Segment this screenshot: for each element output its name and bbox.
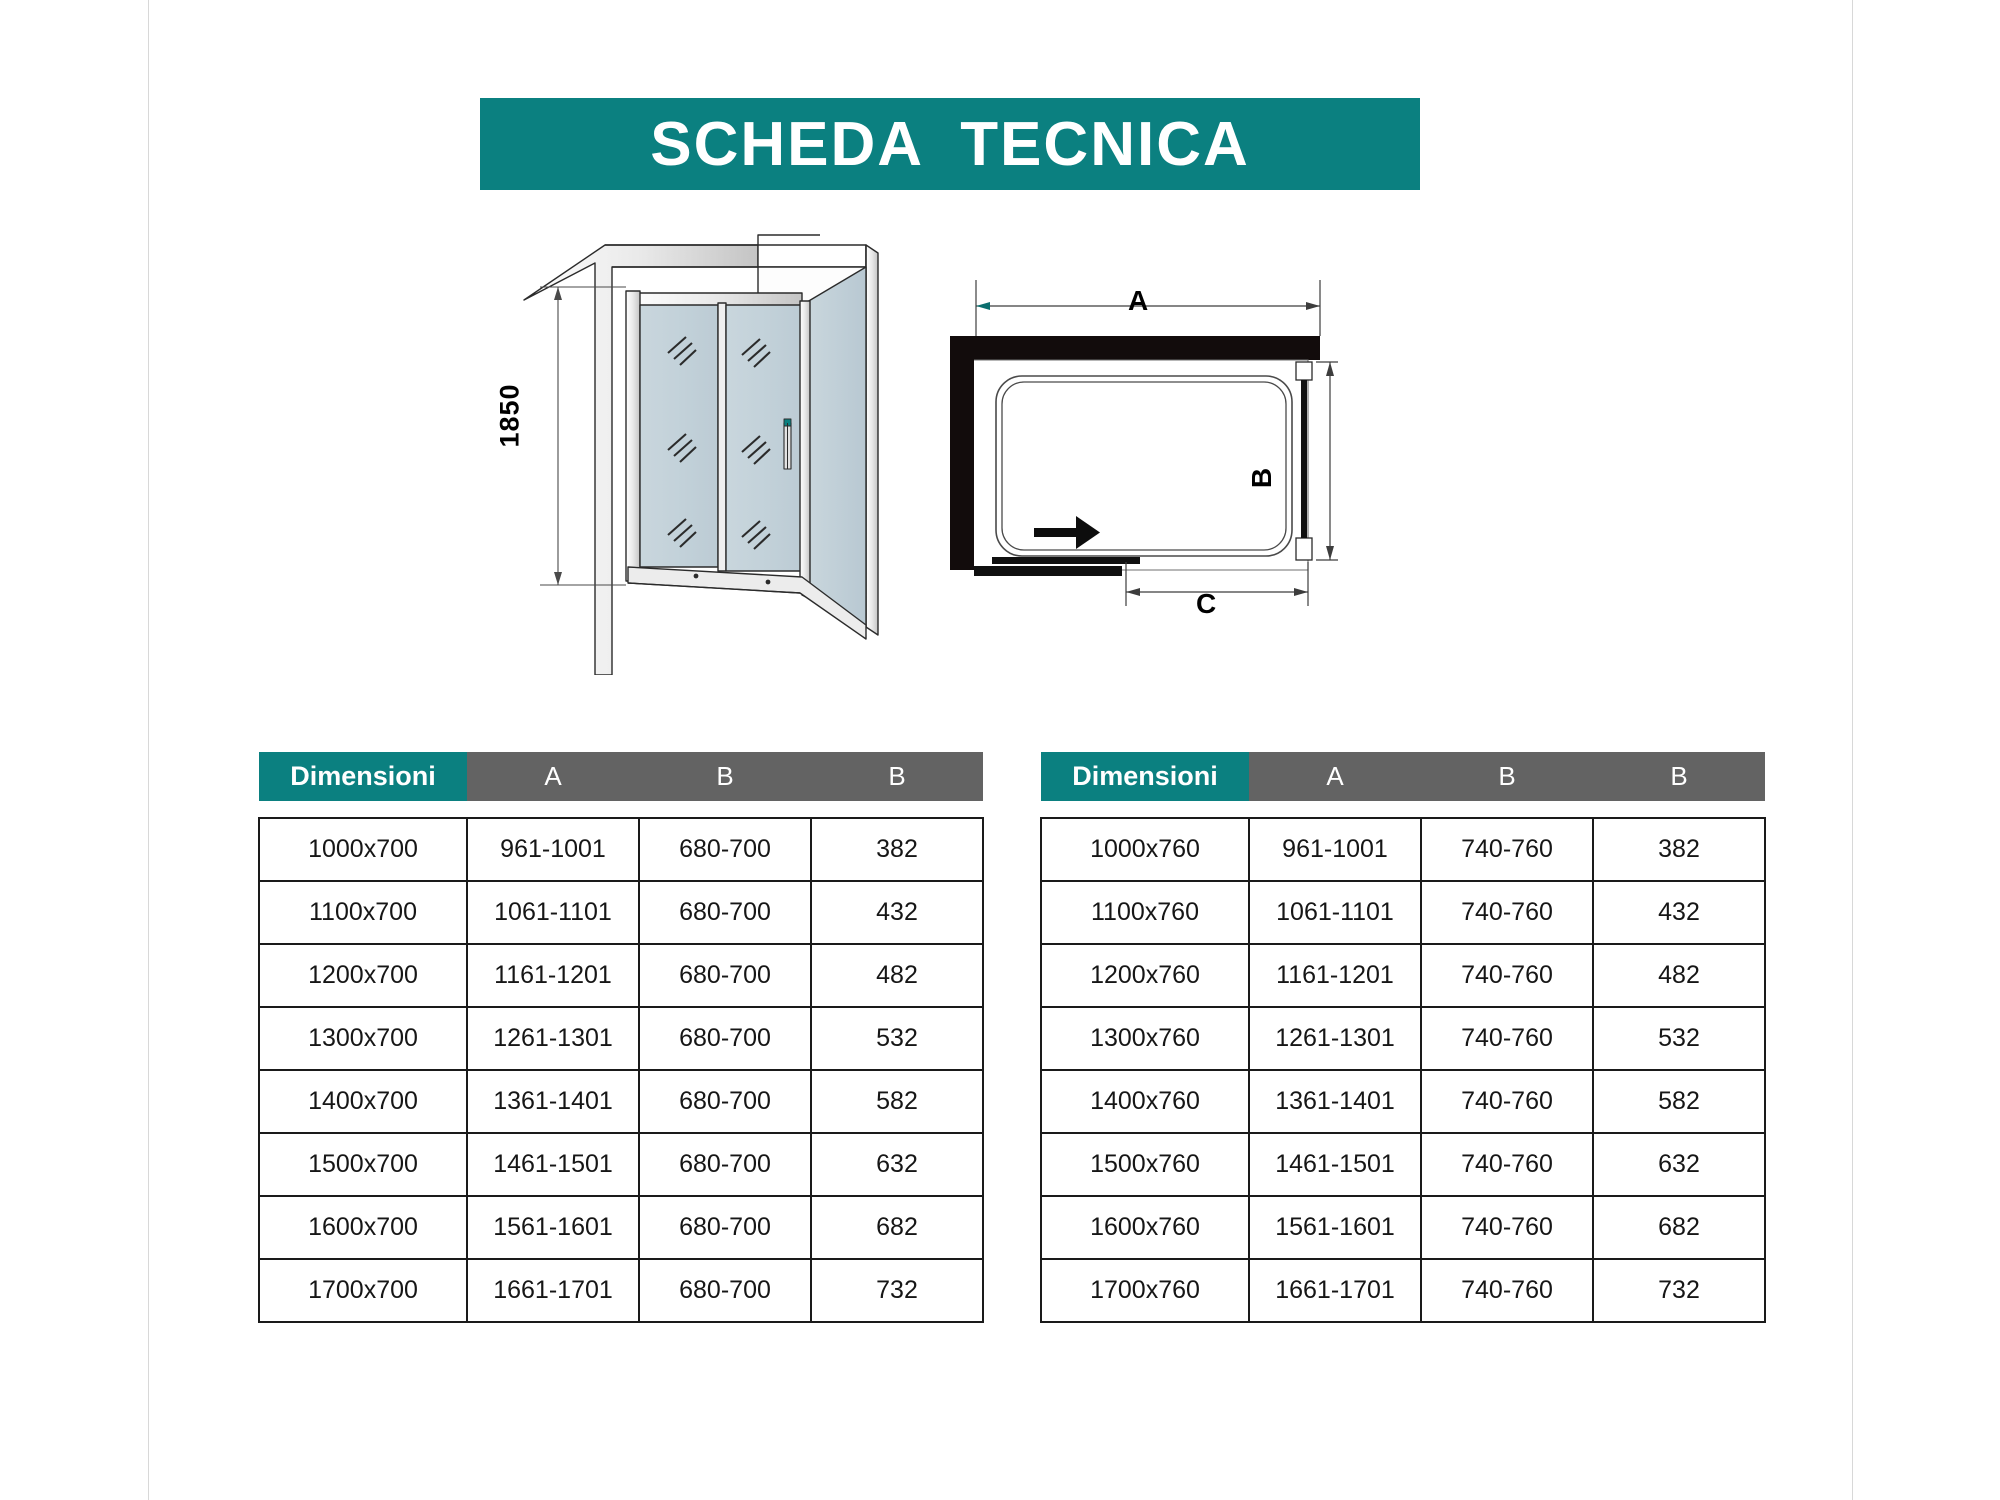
cell-b2: 682 — [1593, 1196, 1765, 1259]
table-row: 1500x760 1461-1501 740-760 632 — [1041, 1133, 1765, 1196]
roller-dot-2 — [766, 580, 771, 585]
cell-b1: 740-760 — [1421, 1259, 1593, 1322]
cell-b2: 382 — [1593, 818, 1765, 881]
table-row: 1700x700 1661-1701 680-700 732 — [259, 1259, 983, 1322]
cell-a: 1561-1601 — [1249, 1196, 1421, 1259]
table-row: 1300x760 1261-1301 740-760 532 — [1041, 1007, 1765, 1070]
cell-a: 1461-1501 — [467, 1133, 639, 1196]
cell-a: 1361-1401 — [467, 1070, 639, 1133]
table-760-body: Dimensioni A B B 1000x760 961-1001 740-7… — [1041, 752, 1765, 1322]
cell-b1: 680-700 — [639, 1196, 811, 1259]
table-row: 1300x700 1261-1301 680-700 532 — [259, 1007, 983, 1070]
table-700-header-b2: B — [811, 752, 983, 801]
cell-dimensioni: 1600x760 — [1041, 1196, 1249, 1259]
cell-b2: 532 — [811, 1007, 983, 1070]
dimensions-table-760: Dimensioni A B B 1000x760 961-1001 740-7… — [1040, 752, 1766, 1323]
cell-b2: 632 — [811, 1133, 983, 1196]
table-760-header-a: A — [1249, 752, 1421, 801]
plan-svg — [940, 270, 1340, 620]
page-frame-left-line — [148, 0, 149, 1500]
cell-dimensioni: 1700x760 — [1041, 1259, 1249, 1322]
cell-dimensioni: 1600x700 — [259, 1196, 467, 1259]
table-row: 1200x760 1161-1201 740-760 482 — [1041, 944, 1765, 1007]
table-760-header-row: Dimensioni A B B — [1041, 752, 1765, 801]
cell-b2: 532 — [1593, 1007, 1765, 1070]
dim-line-C — [1126, 562, 1308, 606]
table-row: 1400x700 1361-1401 680-700 582 — [259, 1070, 983, 1133]
table-700-body: Dimensioni A B B 1000x700 961-1001 680-7… — [259, 752, 983, 1322]
cell-dimensioni: 1400x760 — [1041, 1070, 1249, 1133]
table-700-header-b1: B — [639, 752, 811, 801]
table-row: 1100x760 1061-1101 740-760 432 — [1041, 881, 1765, 944]
cell-b2: 632 — [1593, 1133, 1765, 1196]
cell-a: 961-1001 — [1249, 818, 1421, 881]
centre-mullion — [718, 303, 726, 571]
cell-b2: 382 — [811, 818, 983, 881]
technical-datasheet-page: SCHEDA TECNICA — [0, 0, 2000, 1500]
cell-a: 1161-1201 — [1249, 944, 1421, 1007]
cell-b2: 682 — [811, 1196, 983, 1259]
cell-dimensioni: 1000x700 — [259, 818, 467, 881]
cell-dimensioni: 1100x700 — [259, 881, 467, 944]
door-handle — [784, 419, 791, 469]
cell-b2: 432 — [1593, 881, 1765, 944]
cell-a: 1461-1501 — [1249, 1133, 1421, 1196]
cell-b1: 680-700 — [639, 1007, 811, 1070]
cell-b1: 680-700 — [639, 944, 811, 1007]
table-row: 1000x700 961-1001 680-700 382 — [259, 818, 983, 881]
cell-b1: 740-760 — [1421, 818, 1593, 881]
dimension-label-1850: 1850 — [495, 383, 526, 447]
cell-b1: 740-760 — [1421, 1196, 1593, 1259]
cell-dimensioni: 1100x760 — [1041, 881, 1249, 944]
dimensions-table-700: Dimensioni A B B 1000x700 961-1001 680-7… — [258, 752, 984, 1323]
cell-b1: 740-760 — [1421, 944, 1593, 1007]
bracket-top — [1296, 362, 1312, 380]
cell-dimensioni: 1300x760 — [1041, 1007, 1249, 1070]
cell-a: 1061-1101 — [1249, 881, 1421, 944]
cell-b1: 680-700 — [639, 818, 811, 881]
cell-a: 961-1001 — [467, 818, 639, 881]
table-row: 1400x760 1361-1401 740-760 582 — [1041, 1070, 1765, 1133]
table-700-header-a: A — [467, 752, 639, 801]
table-row: 1100x700 1061-1101 680-700 432 — [259, 881, 983, 944]
cell-dimensioni: 1500x760 — [1041, 1133, 1249, 1196]
table-760-spacer — [1041, 801, 1765, 818]
table-760-header-b2: B — [1593, 752, 1765, 801]
door-side-post — [800, 301, 810, 595]
left-jamb — [626, 291, 640, 581]
table-row: 1500x700 1461-1501 680-700 632 — [259, 1133, 983, 1196]
cell-b1: 740-760 — [1421, 1070, 1593, 1133]
cell-a: 1661-1701 — [467, 1259, 639, 1322]
banner-title: SCHEDA TECNICA — [650, 109, 1250, 180]
cell-a: 1161-1201 — [467, 944, 639, 1007]
cell-b2: 582 — [811, 1070, 983, 1133]
cell-a: 1261-1301 — [467, 1007, 639, 1070]
glass-panel-side-return — [802, 267, 866, 627]
table-700-header-dimensioni: Dimensioni — [259, 752, 467, 801]
cell-b1: 740-760 — [1421, 1007, 1593, 1070]
isometric-svg — [500, 205, 890, 675]
cell-b2: 582 — [1593, 1070, 1765, 1133]
cell-dimensioni: 1400x700 — [259, 1070, 467, 1133]
shower-enclosure-plan-drawing — [940, 270, 1340, 620]
table-row: 1200x700 1161-1201 680-700 482 — [259, 944, 983, 1007]
cell-a: 1661-1701 — [1249, 1259, 1421, 1322]
cell-a: 1561-1601 — [467, 1196, 639, 1259]
cell-b1: 740-760 — [1421, 1133, 1593, 1196]
cell-a: 1261-1301 — [1249, 1007, 1421, 1070]
cell-a: 1061-1101 — [467, 881, 639, 944]
cell-b1: 680-700 — [639, 1259, 811, 1322]
cell-dimensioni: 1000x760 — [1041, 818, 1249, 881]
table-row: 1600x700 1561-1601 680-700 682 — [259, 1196, 983, 1259]
cell-b2: 482 — [1593, 944, 1765, 1007]
table-760-header-dimensioni: Dimensioni — [1041, 752, 1249, 801]
plan-label-b: B — [1246, 468, 1278, 488]
shower-enclosure-isometric-drawing — [500, 205, 890, 675]
cell-b1: 680-700 — [639, 881, 811, 944]
cell-b2: 432 — [811, 881, 983, 944]
cell-dimensioni: 1500x700 — [259, 1133, 467, 1196]
cell-dimensioni: 1200x700 — [259, 944, 467, 1007]
table-700-spacer — [259, 801, 983, 818]
cell-b1: 740-760 — [1421, 881, 1593, 944]
table-760-header-b1: B — [1421, 752, 1593, 801]
bracket-bottom — [1296, 538, 1312, 560]
plan-label-a: A — [1128, 285, 1148, 317]
cell-b1: 680-700 — [639, 1070, 811, 1133]
table-row: 1000x760 961-1001 740-760 382 — [1041, 818, 1765, 881]
cell-b2: 732 — [1593, 1259, 1765, 1322]
side-panel-plan — [1301, 380, 1307, 538]
cell-b2: 732 — [811, 1259, 983, 1322]
dimension-line-1850 — [540, 287, 626, 585]
plan-label-c: C — [1196, 588, 1216, 620]
title-banner: SCHEDA TECNICA — [480, 98, 1420, 190]
cell-a: 1361-1401 — [1249, 1070, 1421, 1133]
cell-b2: 482 — [811, 944, 983, 1007]
cell-b1: 680-700 — [639, 1133, 811, 1196]
door-leaf-rear — [974, 566, 1122, 576]
right-corner-post — [866, 245, 878, 635]
page-frame-right-line — [1852, 0, 1853, 1500]
roller-dot-1 — [694, 574, 699, 579]
table-row: 1600x760 1561-1601 740-760 682 — [1041, 1196, 1765, 1259]
door-leaf-front — [992, 557, 1140, 564]
cell-dimensioni: 1300x700 — [259, 1007, 467, 1070]
table-700-header-row: Dimensioni A B B — [259, 752, 983, 801]
dim-line-B — [1316, 362, 1338, 560]
shower-tray-inner — [1002, 382, 1286, 550]
table-row: 1700x760 1661-1701 740-760 732 — [1041, 1259, 1765, 1322]
cell-dimensioni: 1700x700 — [259, 1259, 467, 1322]
cell-dimensioni: 1200x760 — [1041, 944, 1249, 1007]
